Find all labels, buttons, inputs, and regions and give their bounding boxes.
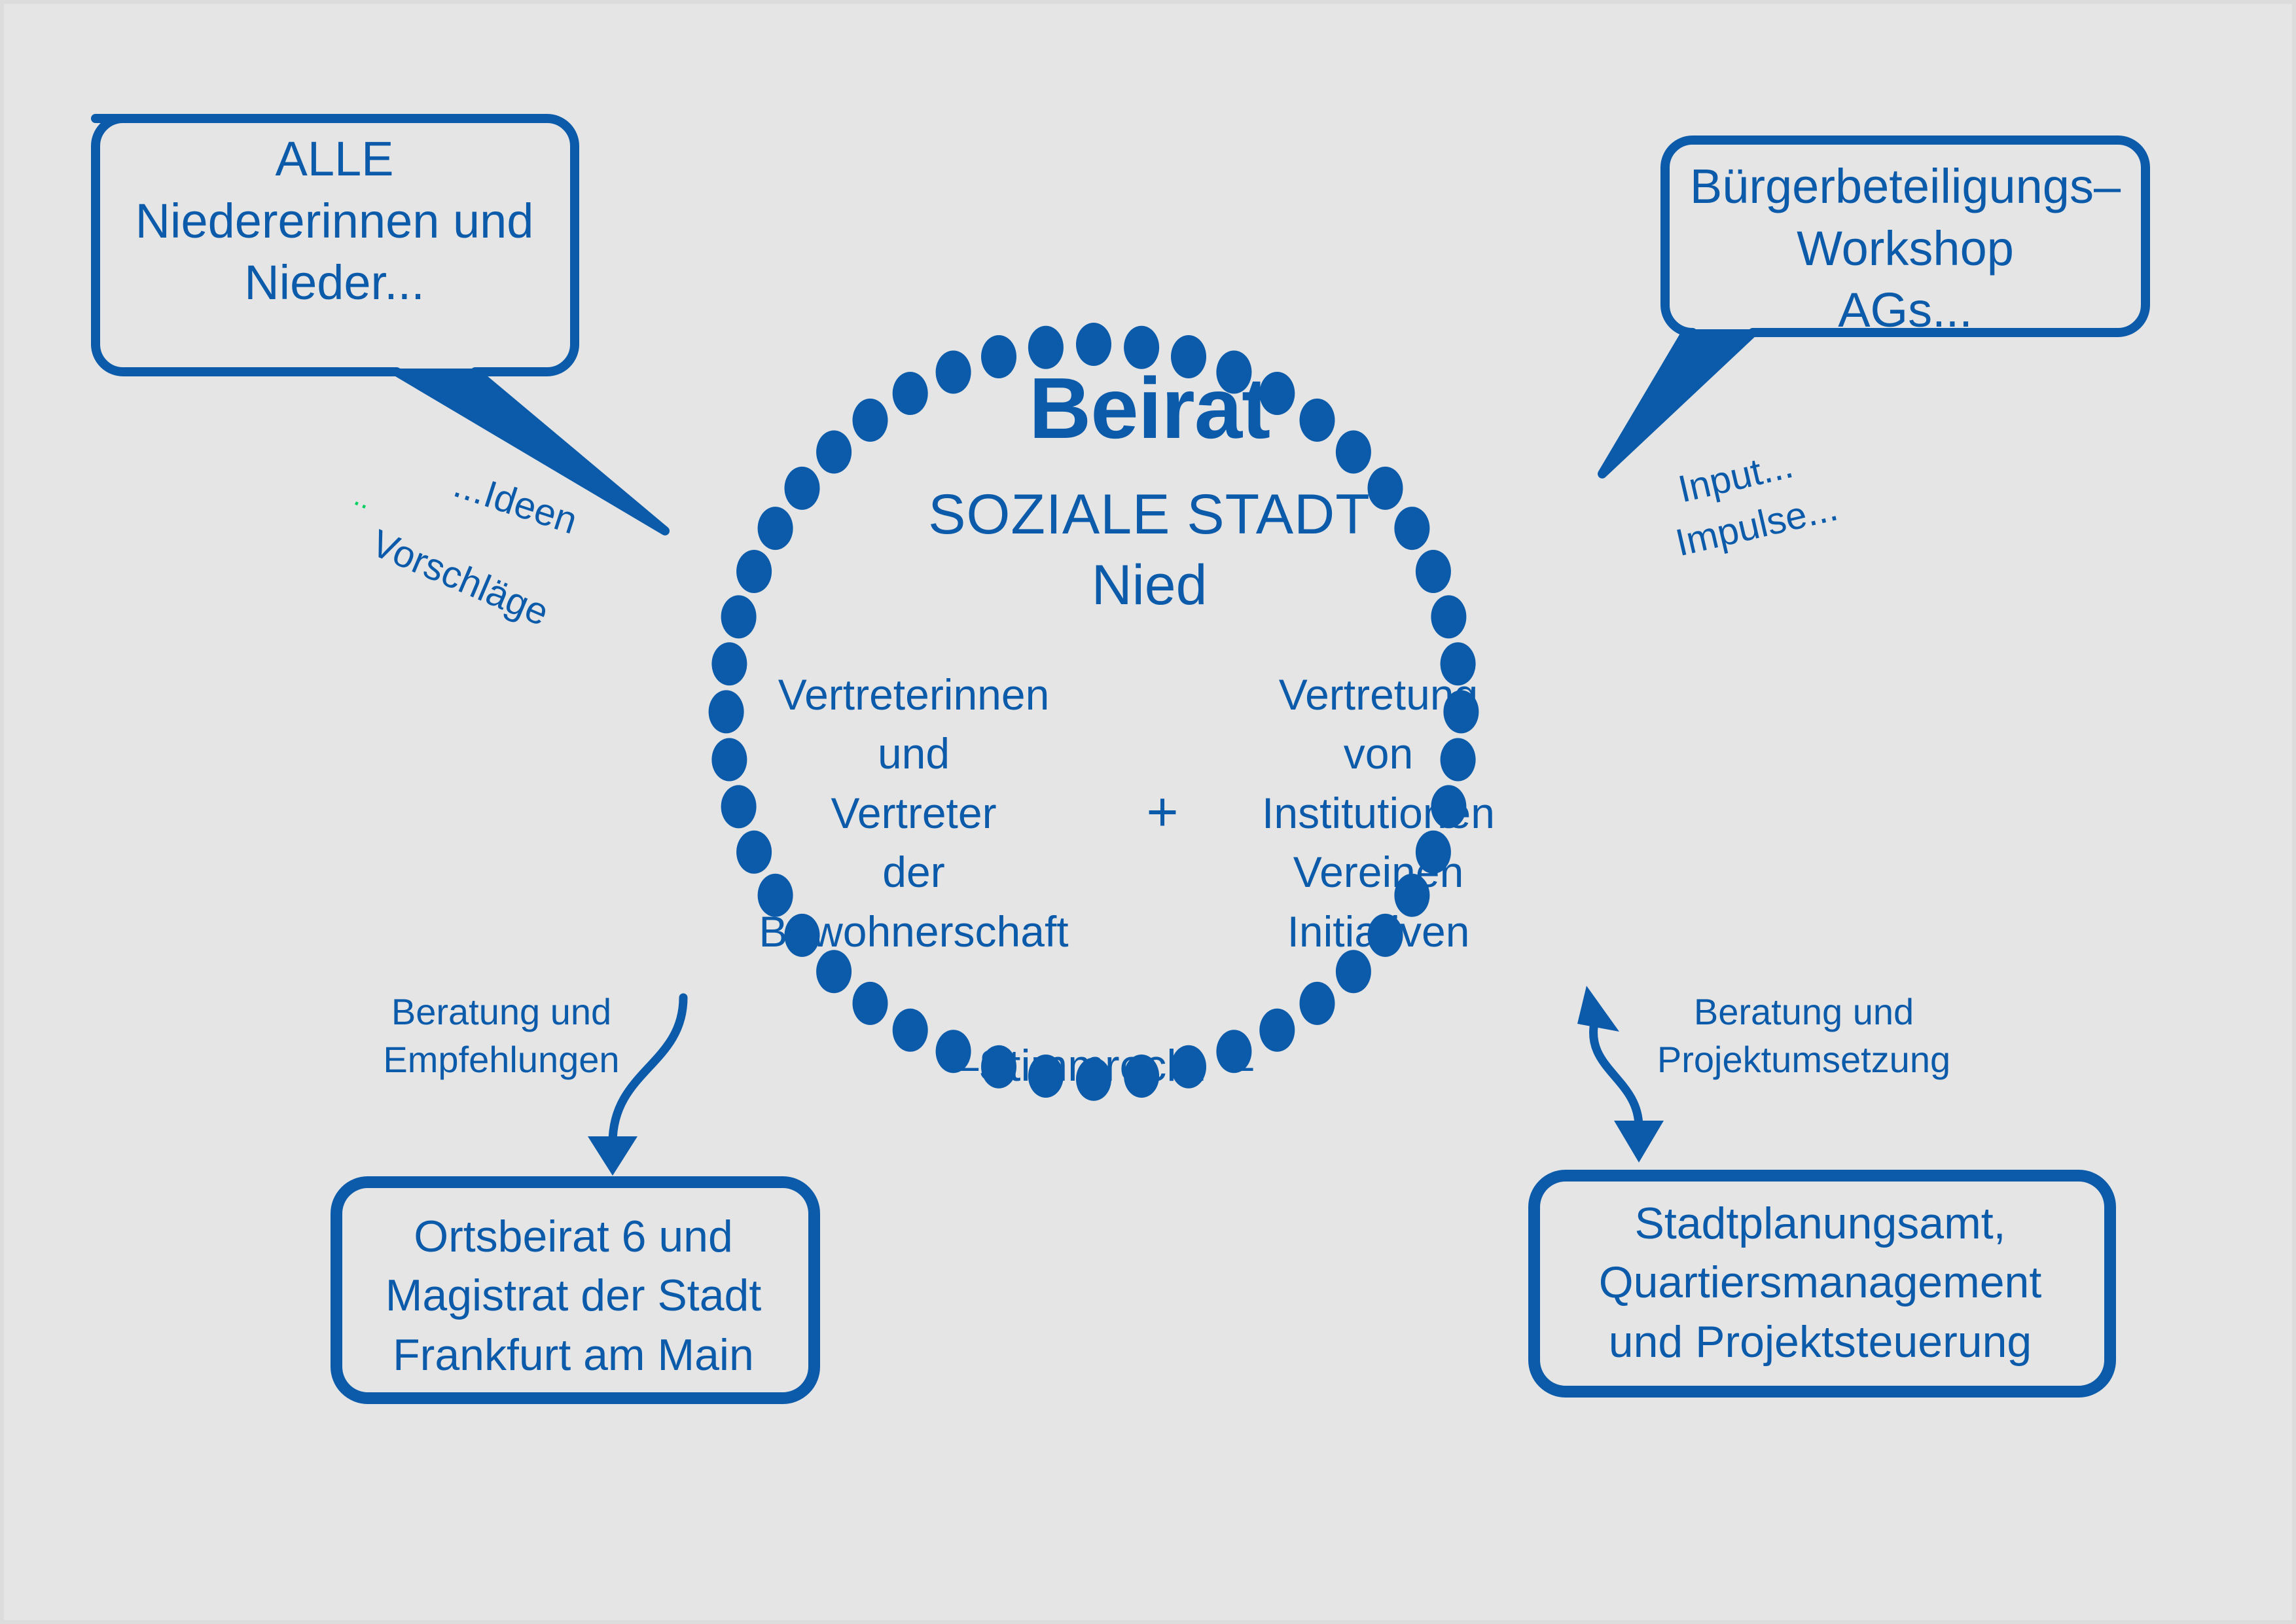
plus-operator: +: [1110, 780, 1215, 844]
center-column-right: Vertretung von Institutionen Vereinen In…: [1202, 665, 1555, 961]
speech-bubble-top-left-label: ALLE Niedererinnen und Nieder...: [102, 128, 567, 314]
center-subtitle-primary: SOZIALE STADT: [822, 482, 1477, 548]
box-ortsbeirat-label: Ortsbeirat 6 und Magistrat der Stadt Fra…: [338, 1207, 809, 1384]
annotation-beratung-empfehlungen: Beratung und Empfehlungen: [351, 988, 652, 1084]
annotation-beratung-projektumsetzung: Beratung und Projektumsetzung: [1634, 988, 1974, 1084]
speech-bubble-top-right-label: Bürgerbeteiligungs– Workshop AGs...: [1679, 156, 2131, 342]
center-column-left: Vertreterinnen und Vertreter der Bewohne…: [704, 665, 1123, 961]
box-stadtplanungsamt-label: Stadtplanungsamt, Quartiersmanagement un…: [1542, 1194, 2098, 1371]
page-title: Beirat: [822, 357, 1477, 460]
diagram-canvas: ALLE Niedererinnen und Nieder... Bürgerb…: [0, 0, 2296, 1624]
center-subtitle-secondary: Nied: [822, 552, 1477, 619]
center-footer-stimmrecht: –Stimmrecht –: [920, 1039, 1287, 1092]
